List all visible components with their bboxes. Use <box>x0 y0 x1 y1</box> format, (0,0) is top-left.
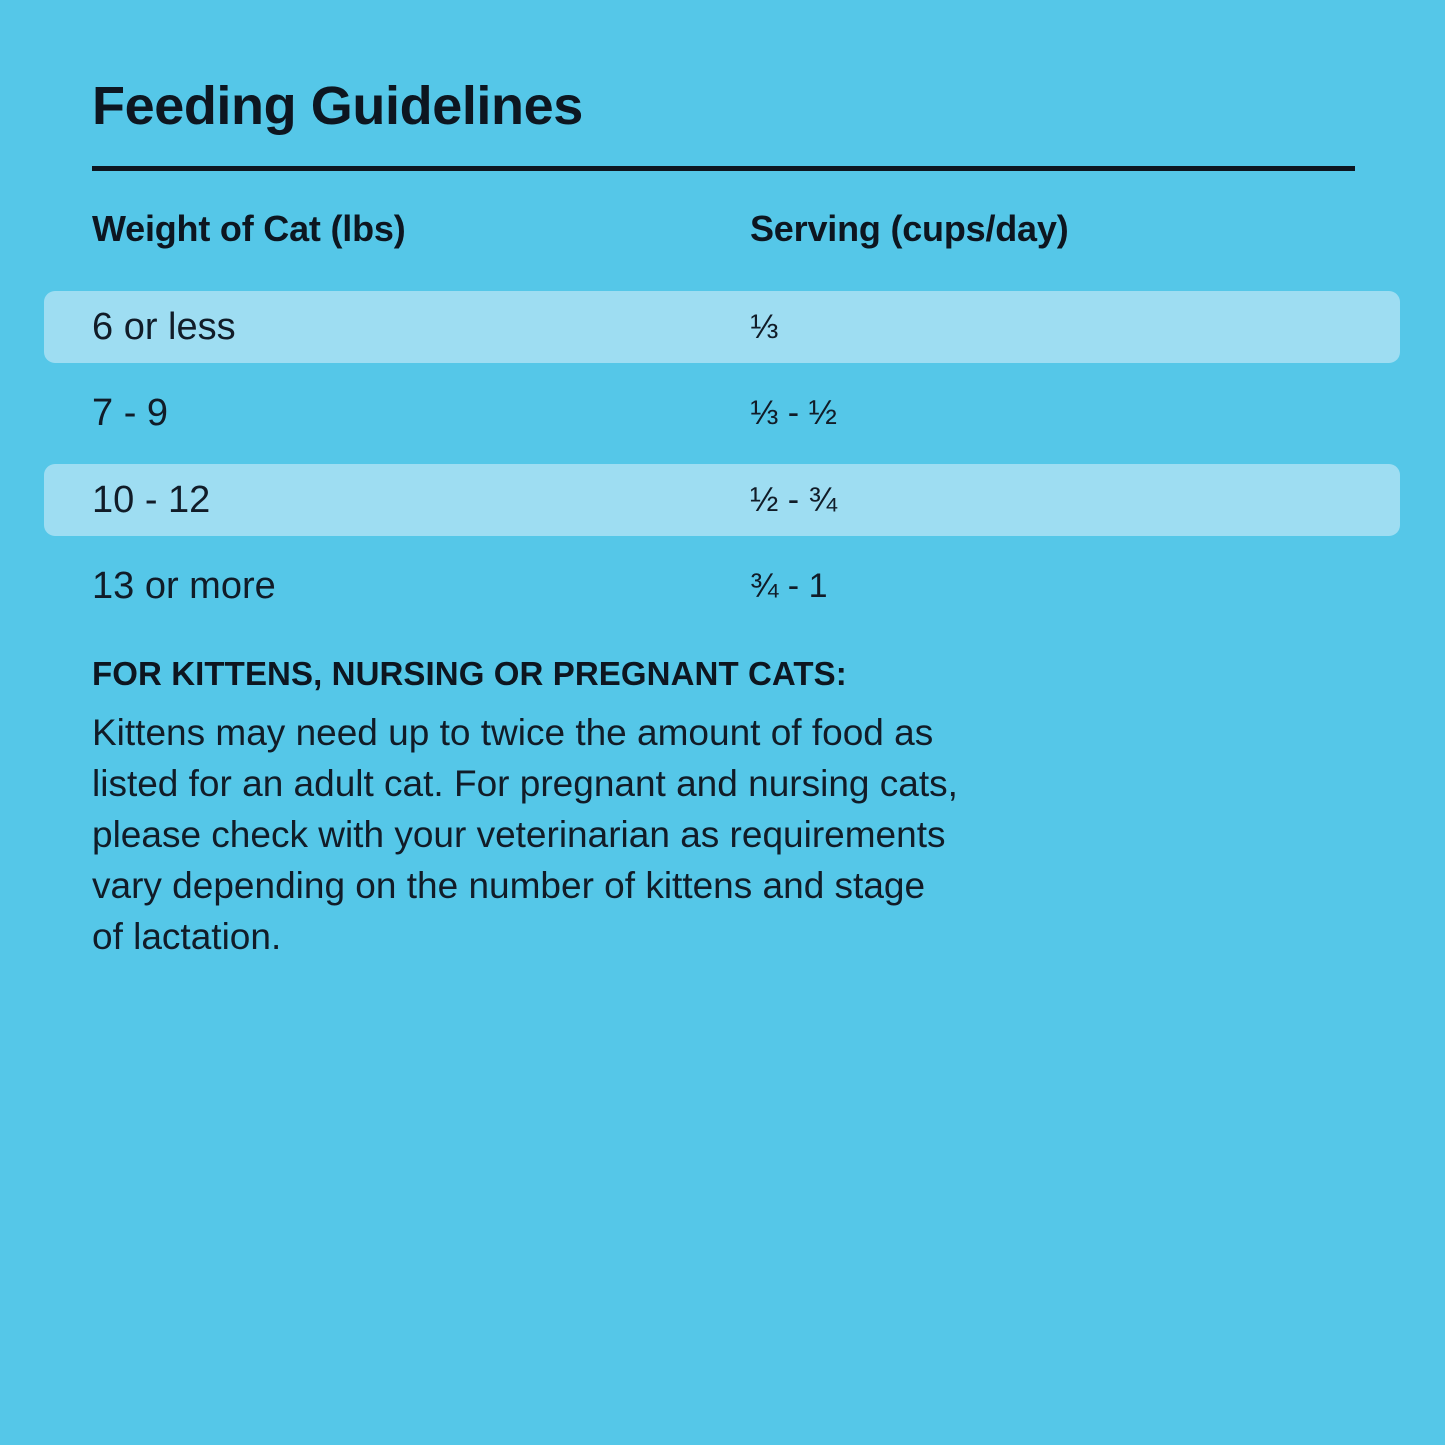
column-header-serving: Serving (cups/day) <box>750 208 1068 250</box>
notes-body: Kittens may need up to twice the amount … <box>92 707 1282 962</box>
table-header-row: Weight of Cat (lbs) Serving (cups/day) <box>0 208 1445 270</box>
notes-line: of lactation. <box>92 911 1282 962</box>
notes-line: please check with your veterinarian as r… <box>92 809 1282 860</box>
table-row: 10 - 12 ½ - ¾ <box>0 464 1445 550</box>
cell-serving: ¾ - 1 <box>750 550 827 622</box>
column-header-weight: Weight of Cat (lbs) <box>92 208 406 250</box>
notes-heading: FOR KITTENS, NURSING OR PREGNANT CATS: <box>92 652 1292 697</box>
notes-line: listed for an adult cat. For pregnant an… <box>92 758 1282 809</box>
table-row: 6 or less ⅓ <box>0 291 1445 377</box>
cell-serving: ½ - ¾ <box>750 464 837 536</box>
cell-weight: 13 or more <box>92 550 276 622</box>
cell-serving: ⅓ - ½ <box>750 377 837 449</box>
row-highlight <box>44 291 1400 363</box>
notes-line: Kittens may need up to twice the amount … <box>92 707 1282 758</box>
cell-serving: ⅓ <box>750 291 778 363</box>
cell-weight: 7 - 9 <box>92 377 168 449</box>
table-row: 7 - 9 ⅓ - ½ <box>0 377 1445 463</box>
feeding-guidelines-panel: Feeding Guidelines Weight of Cat (lbs) S… <box>0 0 1445 1445</box>
cell-weight: 6 or less <box>92 291 236 363</box>
notes-line: vary depending on the number of kittens … <box>92 860 1282 911</box>
cell-weight: 10 - 12 <box>92 464 210 536</box>
page-title: Feeding Guidelines <box>92 78 583 135</box>
table-row: 13 or more ¾ - 1 <box>0 550 1445 636</box>
kitten-notes-section: FOR KITTENS, NURSING OR PREGNANT CATS: K… <box>92 652 1292 962</box>
title-divider <box>92 166 1355 171</box>
row-highlight <box>44 464 1400 536</box>
